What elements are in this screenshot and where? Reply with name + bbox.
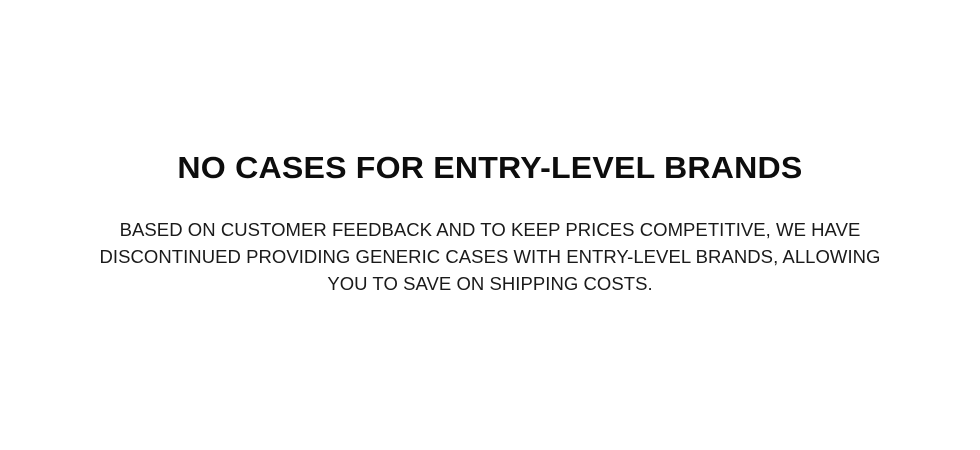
page-title: NO CASES FOR ENTRY-LEVEL BRANDS	[177, 150, 802, 186]
heading-body-spacer	[490, 186, 491, 216]
notice-body-line-1: BASED ON CUSTOMER FEEDBACK AND TO KEEP P…	[90, 216, 890, 243]
notice-content-wrapper: NO CASES FOR ENTRY-LEVEL BRANDS BASED ON…	[40, 150, 940, 297]
notice-body-line-3: YOU TO SAVE ON SHIPPING COSTS.	[90, 270, 890, 297]
notice-body-line-2: DISCONTINUED PROVIDING GENERIC CASES WIT…	[90, 243, 890, 270]
promo-notice-section: NO CASES FOR ENTRY-LEVEL BRANDS BASED ON…	[0, 0, 980, 450]
notice-body-text: BASED ON CUSTOMER FEEDBACK AND TO KEEP P…	[90, 216, 890, 297]
